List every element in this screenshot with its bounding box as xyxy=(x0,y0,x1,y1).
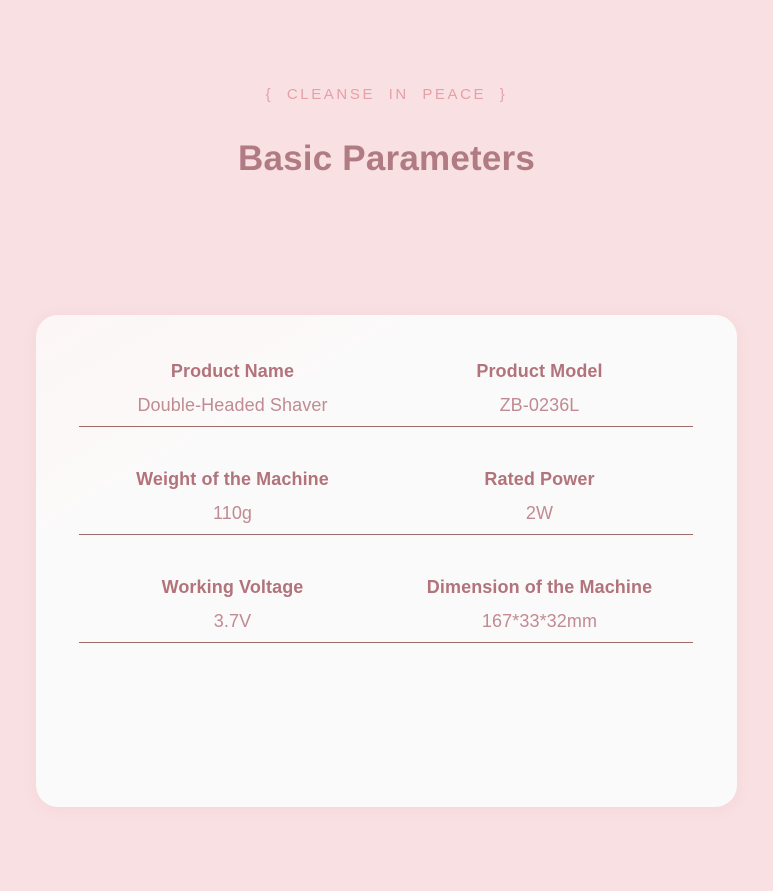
table-row: Working Voltage 3.7V Dimension of the Ma… xyxy=(79,576,693,643)
parameters-table: Product Name Double-Headed Shaver Produc… xyxy=(79,360,694,643)
param-cell-weight: Weight of the Machine 110g xyxy=(79,468,386,525)
param-label: Working Voltage xyxy=(79,576,386,599)
brand-tagline: { CLEANSE IN PEACE } xyxy=(0,86,773,103)
page-header: { CLEANSE IN PEACE } Basic Parameters xyxy=(0,0,773,179)
param-label: Product Model xyxy=(386,360,693,383)
param-label: Weight of the Machine xyxy=(79,468,386,491)
param-label: Rated Power xyxy=(386,468,693,491)
param-cell-product-model: Product Model ZB-0236L xyxy=(386,360,693,417)
param-label: Dimension of the Machine xyxy=(386,576,693,599)
page-title: Basic Parameters xyxy=(0,139,773,179)
param-label: Product Name xyxy=(79,360,386,383)
param-value: 2W xyxy=(386,502,693,525)
param-cell-working-voltage: Working Voltage 3.7V xyxy=(79,576,386,633)
table-row: Product Name Double-Headed Shaver Produc… xyxy=(79,360,693,427)
param-value: 3.7V xyxy=(79,610,386,633)
param-value: ZB-0236L xyxy=(386,394,693,417)
parameters-card: Product Name Double-Headed Shaver Produc… xyxy=(36,315,737,807)
param-cell-dimension: Dimension of the Machine 167*33*32mm xyxy=(386,576,693,633)
table-row: Weight of the Machine 110g Rated Power 2… xyxy=(79,468,693,535)
param-cell-product-name: Product Name Double-Headed Shaver xyxy=(79,360,386,417)
param-value: Double-Headed Shaver xyxy=(79,394,386,417)
param-value: 110g xyxy=(79,502,386,525)
param-value: 167*33*32mm xyxy=(386,610,693,633)
param-cell-rated-power: Rated Power 2W xyxy=(386,468,693,525)
